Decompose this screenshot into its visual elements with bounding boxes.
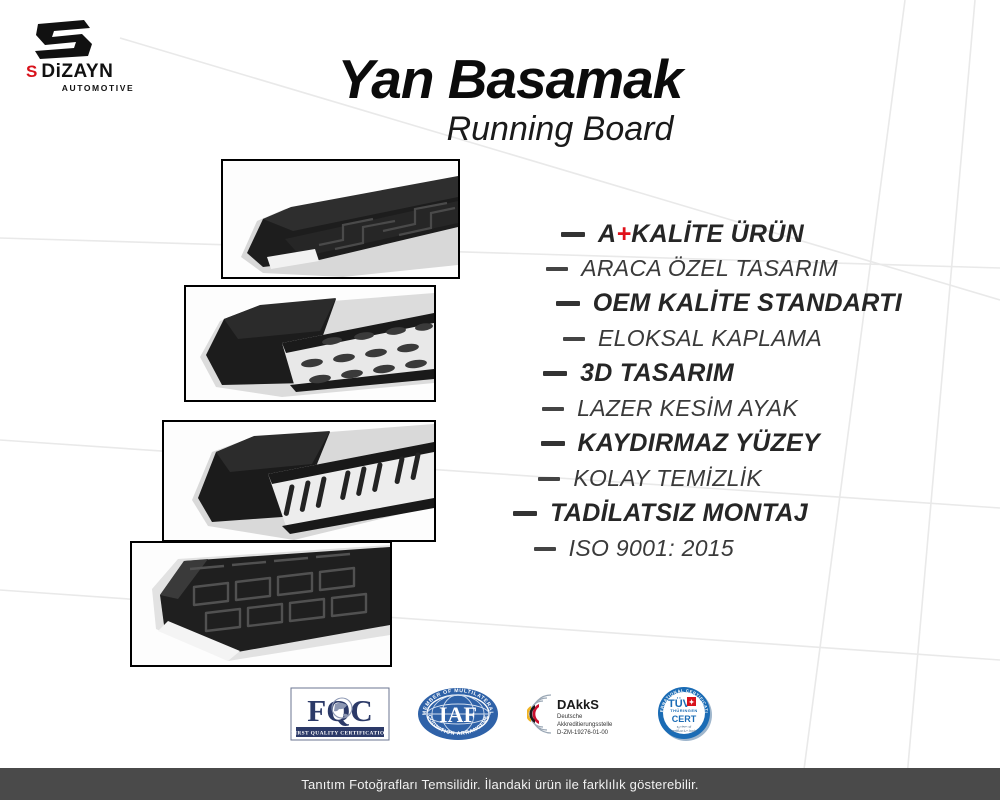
feature-item-6: KAYDIRMAZ YÜZEY — [430, 431, 920, 456]
tuv-cert-seal-icon: INTERNATIONAL CERTIFICATION TÜV ✦ THÜRIN… — [655, 685, 715, 743]
fqc-logo-icon: FQC FIRST QUALITY CERTIFICATION — [290, 687, 390, 741]
feature-label-4: 3D TASARIM — [580, 361, 734, 386]
feature-label-6: KAYDIRMAZ YÜZEY — [578, 431, 820, 456]
feature-label-7: KOLAY TEMİZLİK — [573, 467, 762, 490]
svg-text:CERT: CERT — [672, 714, 697, 724]
bullet-dash-icon — [563, 337, 585, 341]
running-board-textured-black-top-image — [223, 161, 458, 277]
accent-plus: + — [616, 220, 631, 248]
svg-text:Deutsche: Deutsche — [557, 714, 583, 720]
feature-item-8: TADİLATSIZ MONTAJ — [430, 501, 920, 526]
svg-text:D-ZM-19276-01-00: D-ZM-19276-01-00 — [557, 730, 609, 736]
feature-item-3: ELOKSAL KAPLAMA — [430, 327, 920, 350]
feature-item-9: ISO 9001: 2015 — [430, 537, 920, 560]
product-info-graphic: S DiZAYN AUTOMOTIVE Yan Basamak Running … — [0, 0, 1000, 800]
logo-s-letter: S — [26, 63, 36, 80]
bullet-dash-icon — [538, 477, 560, 481]
feature-item-2: OEM KALİTE STANDARTI — [430, 291, 920, 316]
bullet-dash-icon — [513, 511, 537, 516]
svg-text:IAF: IAF — [439, 702, 477, 727]
bullet-dash-icon — [534, 547, 556, 551]
feature-item-4: 3D TASARIM — [430, 361, 920, 386]
product-photo-4 — [130, 541, 392, 667]
footer-disclaimer-text: Tanıtım Fotoğrafları Temsilidir. İlandak… — [301, 777, 699, 792]
running-board-aluminium-oval-studs-image — [186, 287, 434, 400]
page-title: Yan Basamak — [300, 52, 720, 107]
svg-text:DAkkS: DAkkS — [557, 697, 599, 712]
logo-tagline: AUTOMOTIVE — [42, 83, 154, 93]
feature-label-5: LAZER KESİM AYAK — [577, 397, 798, 420]
feature-item-0: A+KALİTE ÜRÜN — [430, 222, 920, 247]
feature-label-2: OEM KALİTE STANDARTI — [593, 291, 902, 316]
svg-text:TIC: TIC — [677, 726, 692, 734]
logo-wordmark: DiZAYN — [41, 62, 113, 81]
feature-label-0: A+KALİTE ÜRÜN — [598, 222, 804, 247]
brand-logo: S DiZAYN AUTOMOTIVE — [24, 18, 154, 93]
svg-text:THÜRINGEN: THÜRINGEN — [670, 708, 697, 713]
page-subtitle: Running Board — [330, 112, 790, 146]
product-photo-2 — [184, 285, 436, 402]
svg-text:Akkreditierungsstelle: Akkreditierungsstelle — [557, 722, 613, 728]
svg-text:FIRST QUALITY CERTIFICATION: FIRST QUALITY CERTIFICATION — [291, 731, 389, 737]
bullet-dash-icon — [543, 371, 567, 376]
bullet-dash-icon — [546, 267, 568, 271]
feature-item-5: LAZER KESİM AYAK — [430, 397, 920, 420]
feature-item-1: ARACA ÖZEL TASARIM — [430, 257, 920, 280]
feature-item-7: KOLAY TEMİZLİK — [430, 467, 920, 490]
cert-badge-fqc: FQC FIRST QUALITY CERTIFICATION — [290, 684, 390, 744]
dakks-logo-icon: DAkkS Deutsche Akkreditierungsstelle D-Z… — [527, 689, 629, 739]
cert-badge-dakks: DAkkS Deutsche Akkreditierungsstelle D-Z… — [527, 684, 629, 744]
bullet-dash-icon — [561, 232, 585, 237]
running-board-block-tread-image — [132, 543, 390, 665]
footer-disclaimer-bar: Tanıtım Fotoğrafları Temsilidir. İlandak… — [0, 768, 1000, 800]
svg-text:✦: ✦ — [689, 699, 695, 707]
feature-label-9: ISO 9001: 2015 — [569, 537, 734, 560]
feature-label-1: ARACA ÖZEL TASARIM — [581, 257, 838, 280]
cert-badge-tuv-thuringen: INTERNATIONAL CERTIFICATION TÜV ✦ THÜRIN… — [655, 684, 715, 744]
feature-label-8: TADİLATSIZ MONTAJ — [550, 501, 808, 526]
product-photo-1 — [221, 159, 460, 279]
product-photo-3 — [162, 420, 436, 542]
feature-list: A+KALİTE ÜRÜN ARACA ÖZEL TASARIM OEM KAL… — [430, 222, 920, 560]
feature-label-3: ELOKSAL KAPLAMA — [598, 327, 822, 350]
bullet-dash-icon — [556, 301, 580, 306]
certification-badges: FQC FIRST QUALITY CERTIFICATION IAF — [290, 683, 715, 745]
bullet-dash-icon — [542, 407, 564, 411]
running-board-aluminium-slot-grips-image — [164, 422, 434, 540]
cert-badge-iaf: IAF MEMBER OF MULTILATERAL RECOGNITION A… — [416, 684, 500, 744]
s-mark-icon — [32, 18, 98, 60]
bullet-dash-icon — [541, 441, 565, 446]
iaf-logo-icon: IAF MEMBER OF MULTILATERAL RECOGNITION A… — [416, 686, 500, 742]
